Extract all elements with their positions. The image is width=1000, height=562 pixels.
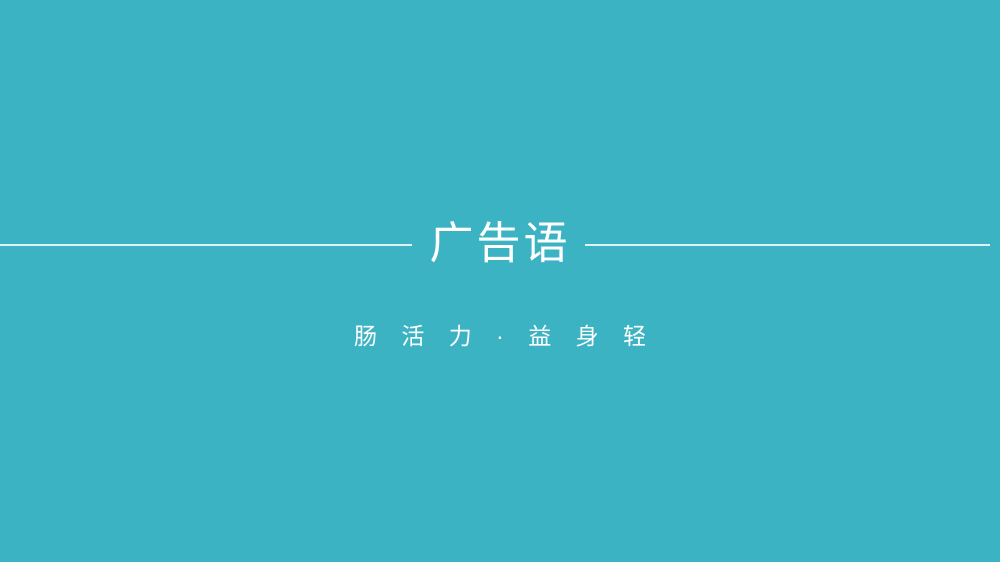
slide-canvas: 广告语 肠 活 力 · 益 身 轻 — [0, 0, 1000, 562]
slide-subtitle-container: 肠 活 力 · 益 身 轻 — [0, 318, 1000, 354]
slide-subtitle: 肠 活 力 · 益 身 轻 — [354, 318, 655, 354]
slide-title-container: 广告语 — [0, 213, 1000, 275]
slide-title: 广告语 — [408, 213, 593, 275]
